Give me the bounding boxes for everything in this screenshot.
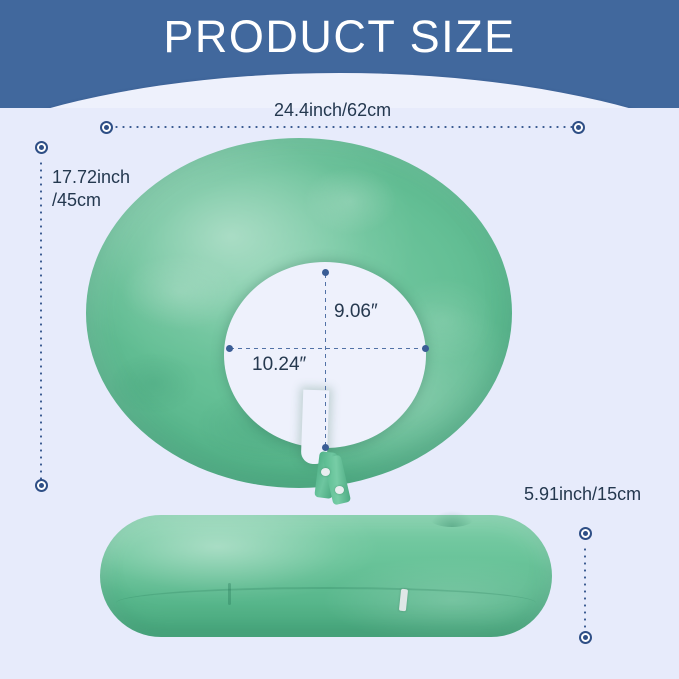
dimension-marker-inner-height-top	[322, 269, 329, 276]
dimension-line-overall-width	[113, 126, 579, 128]
dimension-label-thickness: 5.91inch/15cm	[524, 483, 641, 506]
pillow-side-seam	[116, 587, 536, 619]
dimension-label-inner-width: 10.24″	[252, 353, 306, 376]
snap-button-upper	[321, 468, 330, 476]
dimension-label-overall-depth: 17.72inch /45cm	[52, 166, 130, 212]
dimension-marker-inner-width-left	[226, 345, 233, 352]
dimension-line-thickness	[584, 546, 586, 632]
dimension-marker-thickness-bottom	[579, 631, 592, 644]
dimension-marker-thickness-top	[579, 527, 592, 540]
snap-button-lower	[335, 486, 344, 494]
dimension-label-overall-width: 24.4inch/62cm	[274, 99, 391, 122]
dimension-marker-width-right	[572, 121, 585, 134]
product-size-infographic: PRODUCT SIZE 24.4inch/62cm 17.72inch /45…	[0, 0, 679, 679]
dimension-marker-depth-top	[35, 141, 48, 154]
pillow-side-top-notch	[430, 511, 474, 527]
dimension-line-inner-width	[230, 348, 426, 349]
page-title: PRODUCT SIZE	[0, 11, 679, 63]
u-shaped-neck-pillow-top-view	[86, 138, 512, 488]
dimension-marker-width-left	[100, 121, 113, 134]
header-band: PRODUCT SIZE	[0, 0, 679, 108]
dimension-line-inner-height	[325, 274, 326, 448]
dimension-label-inner-height: 9.06″	[334, 300, 378, 323]
snap-buckle-strap	[303, 450, 373, 506]
dimension-marker-inner-width-right	[422, 345, 429, 352]
pillow-side-tuft-left	[228, 583, 231, 605]
u-shaped-neck-pillow-side-view	[100, 515, 552, 643]
dimension-marker-depth-bottom	[35, 479, 48, 492]
dimension-line-overall-depth	[40, 160, 42, 480]
dimension-marker-inner-height-bottom	[322, 444, 329, 451]
